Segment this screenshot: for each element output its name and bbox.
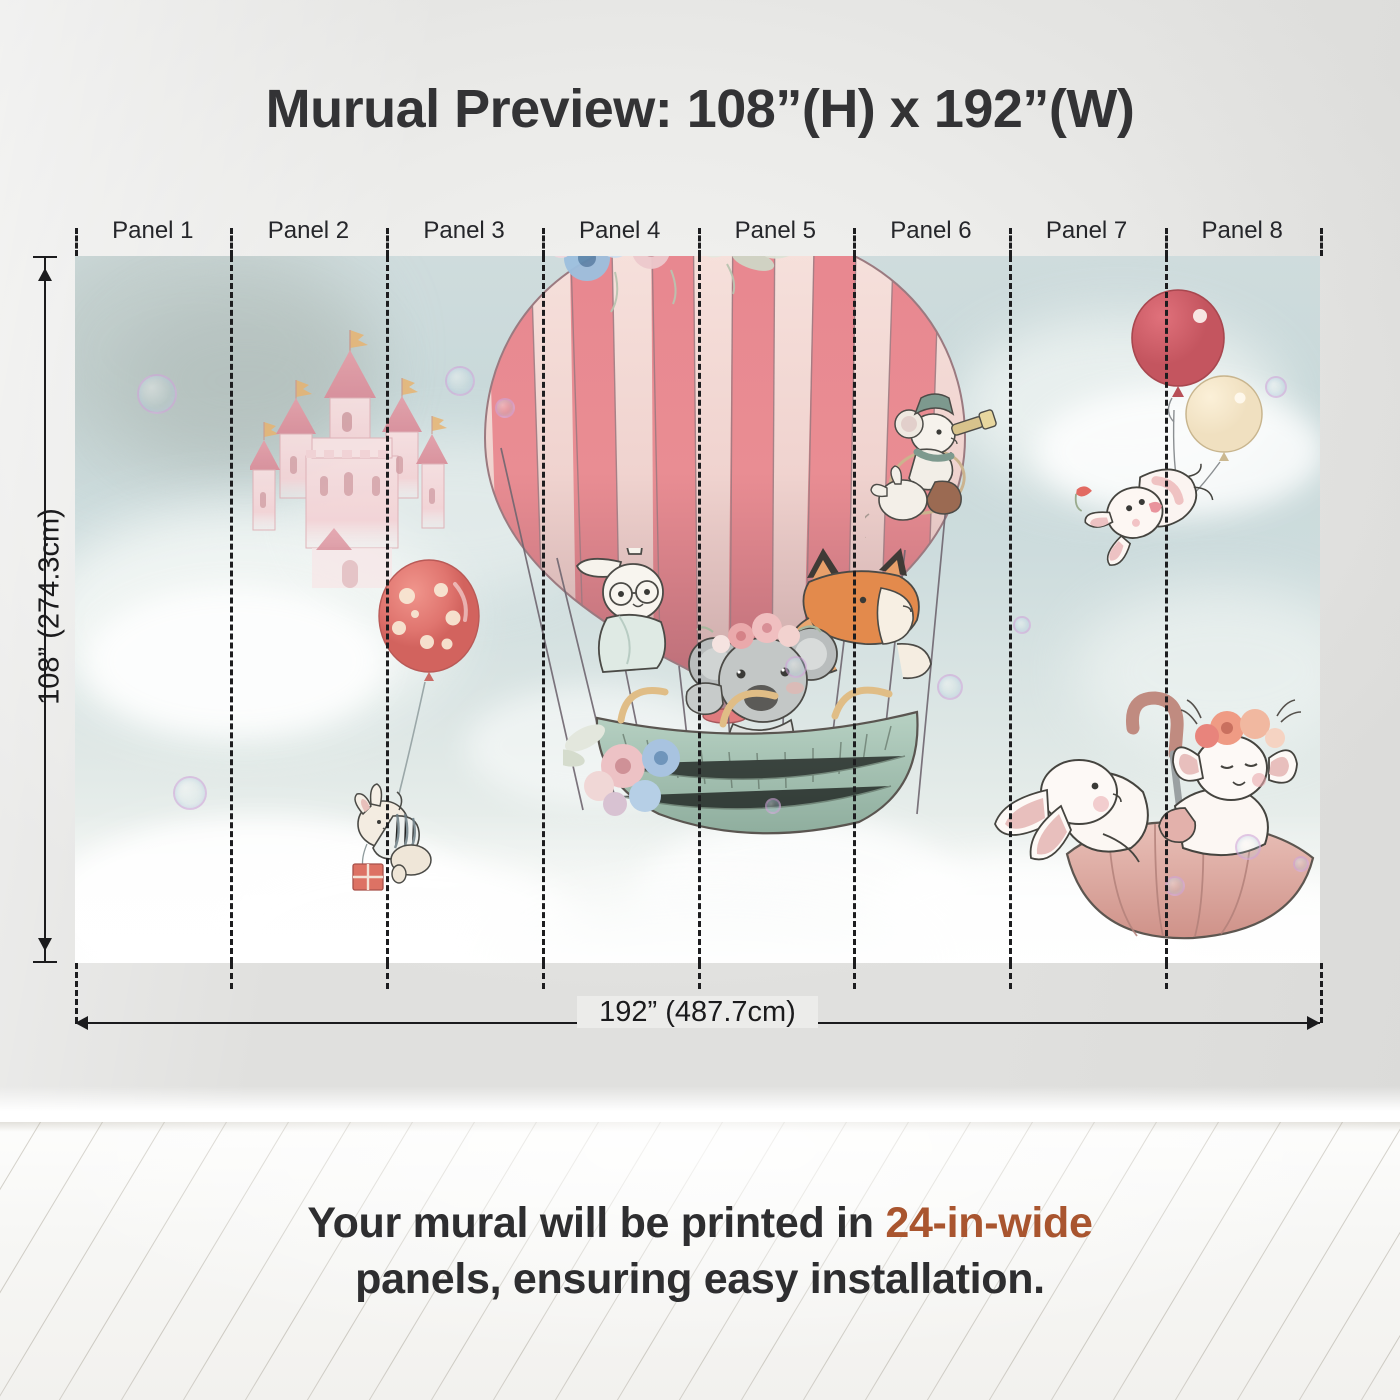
telescope-mouse-illustration [865, 386, 1005, 546]
caption-text: Your mural will be printed in 24-in-wide… [100, 1196, 1300, 1308]
panel-label-6: Panel 6 [853, 214, 1009, 248]
bubble [137, 374, 177, 414]
panel-divider-tick-bottom [1165, 963, 1168, 989]
umbrella-bunnies-illustration [975, 686, 1320, 963]
panel-divider-tick-top [1009, 228, 1012, 256]
width-dimension-label: 192” (487.7cm) [577, 996, 818, 1028]
caption-line2: panels, ensuring easy installation. [355, 1255, 1045, 1303]
page-title: Murual Preview: 108”(H) x 192”(W) [0, 78, 1400, 140]
caption-line1-prefix: Your mural will be printed in [307, 1199, 885, 1247]
panel-divider-tick-top [1165, 228, 1168, 256]
bubble [495, 398, 515, 418]
panel-divider-tick-top [386, 228, 389, 256]
panel-divider-tick-top [542, 228, 545, 256]
panel-label-7: Panel 7 [1009, 214, 1165, 248]
bubble [1265, 376, 1287, 398]
panel-divider-7 [1165, 256, 1168, 963]
rabbit-with-glasses [577, 548, 665, 672]
panel-divider-4 [698, 256, 701, 963]
bubble [173, 776, 207, 810]
panel-divider-6 [1009, 256, 1012, 963]
panel-divider-tick-bottom [1320, 963, 1323, 1023]
panel-divider-tick-bottom [386, 963, 389, 989]
bubble [785, 656, 807, 678]
panel-divider-tick-top [853, 228, 856, 256]
panel-divider-tick-bottom [853, 963, 856, 989]
caption-accent: 24-in-wide [885, 1199, 1092, 1247]
panel-divider-tick-bottom [542, 963, 545, 989]
panel-label-3: Panel 3 [386, 214, 542, 248]
panel-divider-2 [386, 256, 389, 963]
flying-bunny-balloons-illustration [1060, 286, 1290, 586]
width-dimension-group: 192” (487.7cm) [75, 1012, 1320, 1034]
panel-divider-tick-top [1320, 228, 1323, 256]
width-dimension-label-wrap: 192” (487.7cm) [75, 996, 1320, 1029]
panel-divider-tick-bottom [1009, 963, 1012, 989]
bubble [1013, 616, 1031, 634]
panel-divider-5 [853, 256, 856, 963]
height-dimension-cap-bottom [33, 961, 57, 963]
panel-divider-tick-top [75, 228, 78, 256]
bubble [1165, 876, 1185, 896]
height-arrow-down [38, 938, 52, 951]
panel-divider-tick-bottom [698, 963, 701, 989]
height-arrow-up [38, 268, 52, 281]
bubble [765, 798, 781, 814]
umbrella-bunny-left [995, 760, 1148, 862]
panel-label-1: Panel 1 [75, 214, 231, 248]
height-dimension-label: 108” (274.3cm) [34, 442, 67, 772]
panel-label-8: Panel 8 [1164, 214, 1320, 248]
panel-label-5: Panel 5 [698, 214, 854, 248]
panel-divider-tick-bottom [230, 963, 233, 989]
panel-label-4: Panel 4 [542, 214, 698, 248]
panel-divider-3 [542, 256, 545, 963]
mural-preview-image [75, 256, 1320, 963]
bubble [445, 366, 475, 396]
panel-divider-tick-top [698, 228, 701, 256]
bubble [937, 674, 963, 700]
height-dimension-cap-top [33, 256, 57, 258]
wall-baseboard-shadow [0, 1086, 1400, 1122]
panel-divider-tick-top [230, 228, 233, 256]
basket-animals-illustration [563, 548, 953, 848]
panel-label-2: Panel 2 [231, 214, 387, 248]
panel-divider-1 [230, 256, 233, 963]
bubble [1293, 856, 1309, 872]
bubble [1235, 834, 1261, 860]
